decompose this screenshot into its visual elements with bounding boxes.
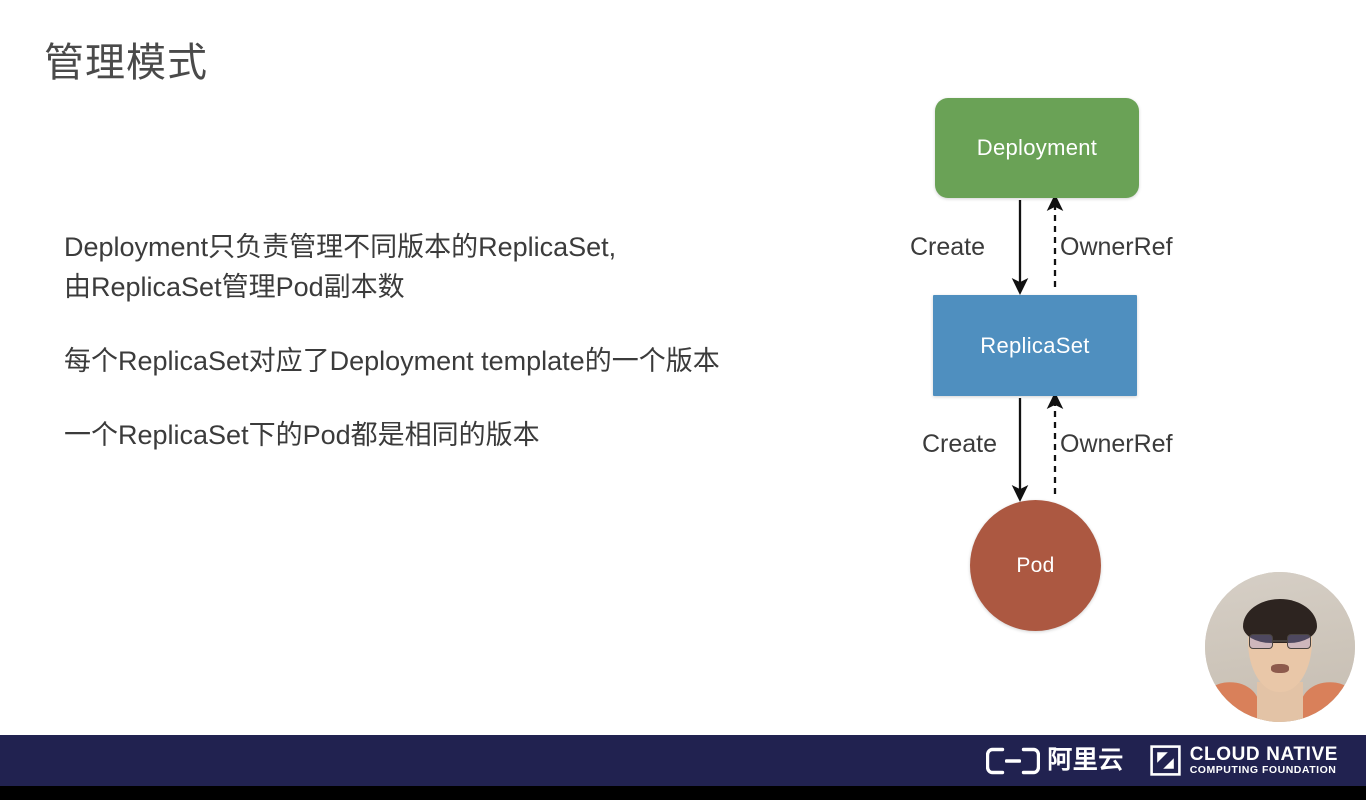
body-text-block: Deployment只负责管理不同版本的ReplicaSet, 由Replica… <box>64 228 884 456</box>
node-pod[interactable]: Pod <box>970 500 1101 631</box>
node-pod-label: Pod <box>1016 554 1054 578</box>
cncf-line-2: COMPUTING FOUNDATION <box>1190 765 1338 776</box>
relationship-diagram: Deployment ReplicaSet Pod Create OwnerRe… <box>880 80 1220 660</box>
cncf-line-1: CLOUD NATIVE <box>1190 745 1338 764</box>
presenter-glasses <box>1249 634 1311 650</box>
glasses-lens-left <box>1249 634 1273 649</box>
footer-black-band <box>0 786 1366 800</box>
node-replicaset[interactable]: ReplicaSet <box>933 295 1137 396</box>
cncf-wordmark: CLOUD NATIVE COMPUTING FOUNDATION <box>1190 745 1338 775</box>
alibaba-cloud-logo: 阿里云 <box>986 747 1124 775</box>
alibaba-cloud-bracket-icon <box>986 747 1040 775</box>
node-replicaset-label: ReplicaSet <box>980 333 1089 359</box>
presentation-slide: 管理模式 Deployment只负责管理不同版本的ReplicaSet, 由Re… <box>0 0 1366 800</box>
paragraph-3: 一个ReplicaSet下的Pod都是相同的版本 <box>64 416 884 456</box>
paragraph-1: Deployment只负责管理不同版本的ReplicaSet, 由Replica… <box>64 228 884 308</box>
cncf-logo: CLOUD NATIVE COMPUTING FOUNDATION <box>1150 745 1338 776</box>
edge-label-create-2: Create <box>922 430 997 459</box>
glasses-bridge <box>1273 640 1287 642</box>
glasses-lens-right <box>1287 634 1311 649</box>
webcam-video <box>1205 572 1355 722</box>
node-deployment[interactable]: Deployment <box>935 98 1139 198</box>
cncf-helm-icon <box>1150 745 1181 776</box>
presenter-webcam-overlay[interactable] <box>1205 572 1355 722</box>
node-deployment-label: Deployment <box>977 135 1097 161</box>
alibaba-cloud-wordmark: 阿里云 <box>1047 748 1124 773</box>
paragraph-2: 每个ReplicaSet对应了Deployment template的一个版本 <box>64 342 884 382</box>
edge-label-create-1: Create <box>910 233 985 262</box>
edge-label-ownerref-2: OwnerRef <box>1060 430 1173 459</box>
presenter-mouth <box>1271 664 1289 673</box>
footer-bar: 阿里云 CLOUD NATIVE COMPUTING FOUNDATION <box>0 735 1366 786</box>
edge-label-ownerref-1: OwnerRef <box>1060 233 1173 262</box>
page-title: 管理模式 <box>44 38 208 88</box>
